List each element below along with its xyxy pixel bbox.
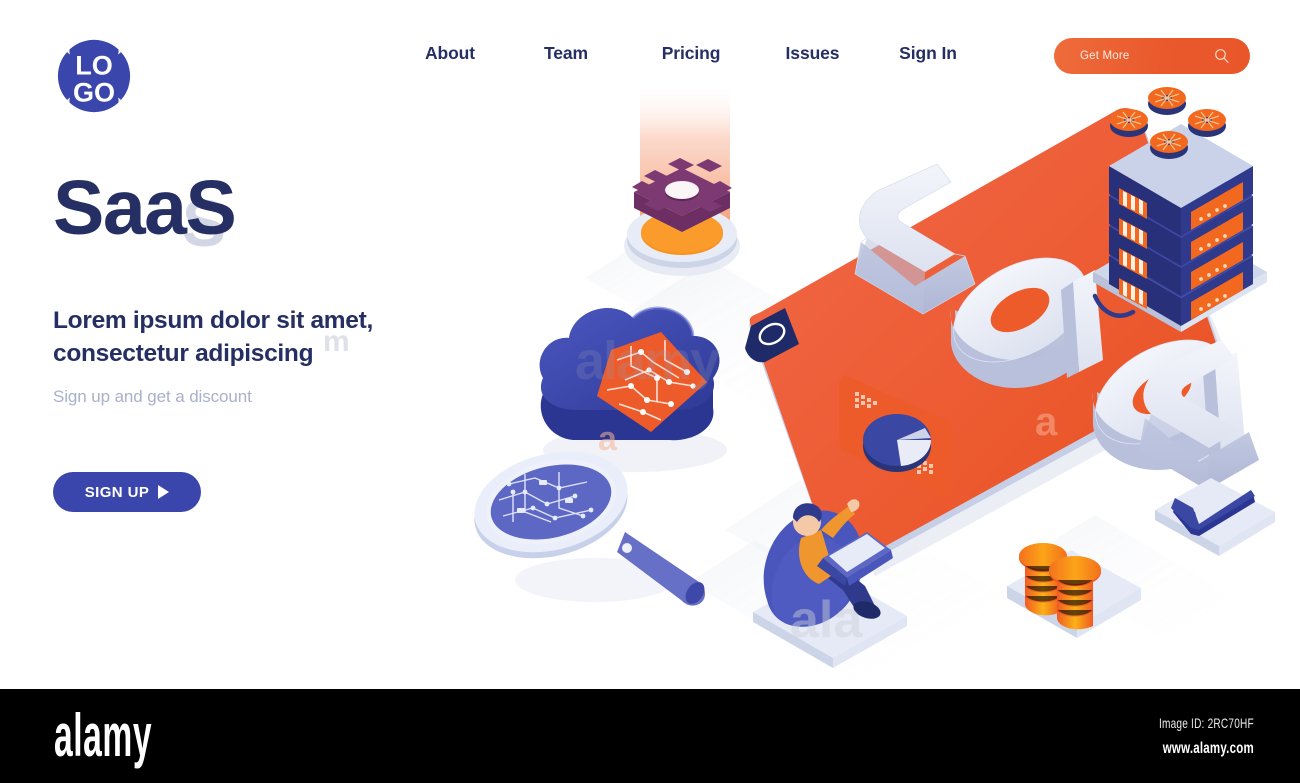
main-navigation: About Team Pricing Issues Sign In bbox=[395, 43, 986, 64]
hero-section: SaaS Lorem ipsum dolor sit amet, consect… bbox=[53, 170, 523, 512]
logo-icon: LO GO bbox=[53, 35, 135, 117]
search-icon bbox=[1213, 47, 1231, 65]
nav-item-about[interactable]: About bbox=[395, 43, 505, 64]
logo[interactable]: LO GO bbox=[53, 35, 135, 117]
nav-item-pricing[interactable]: Pricing bbox=[627, 43, 755, 64]
alamy-footer-bar: alamy Image ID: 2RC70HF www.alamy.com bbox=[0, 689, 1300, 783]
play-arrow-icon bbox=[158, 485, 169, 499]
nav-item-issues[interactable]: Issues bbox=[755, 43, 870, 64]
image-id: Image ID: 2RC70HF bbox=[1159, 715, 1254, 731]
alamy-url: www.alamy.com bbox=[1159, 740, 1254, 758]
sign-up-label: SIGN UP bbox=[85, 484, 149, 501]
sign-up-button[interactable]: SIGN UP bbox=[53, 472, 201, 512]
page-title: SaaS bbox=[53, 170, 523, 247]
svg-text:GO: GO bbox=[73, 77, 115, 107]
svg-text:LO: LO bbox=[75, 50, 113, 80]
site-header: LO GO About Team Pricing Issues Sign In … bbox=[0, 0, 1300, 110]
isometric-illustration bbox=[455, 60, 1300, 680]
server-rack bbox=[1093, 87, 1267, 332]
checkmark-tile bbox=[1155, 478, 1275, 556]
hero-note: Sign up and get a discount bbox=[53, 387, 523, 407]
hero-subtitle: Lorem ipsum dolor sit amet, consectetur … bbox=[53, 305, 413, 370]
gear-on-pedestal bbox=[624, 82, 740, 276]
nav-item-team[interactable]: Team bbox=[505, 43, 627, 64]
footer-meta: Image ID: 2RC70HF www.alamy.com bbox=[1122, 715, 1254, 758]
get-more-label: Get More bbox=[1080, 50, 1130, 62]
get-more-button[interactable]: Get More bbox=[1054, 38, 1250, 74]
alamy-logo: alamy bbox=[54, 706, 152, 766]
page-root: LO GO About Team Pricing Issues Sign In … bbox=[0, 0, 1300, 783]
nav-item-sign-in[interactable]: Sign In bbox=[870, 43, 986, 64]
